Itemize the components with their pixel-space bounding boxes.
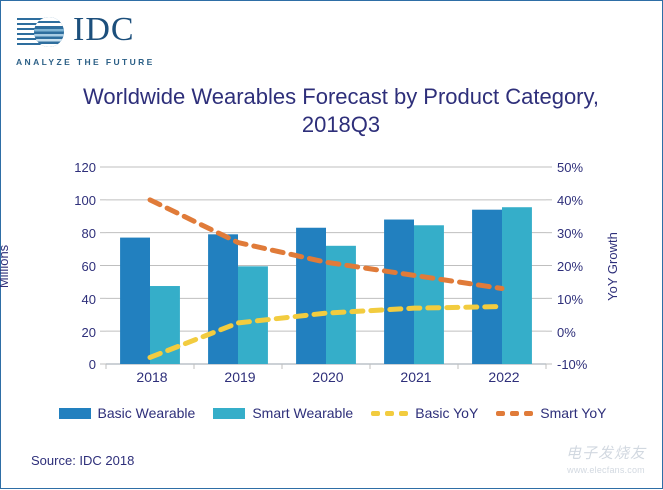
x-tick-2018: 2018 [117, 369, 187, 385]
watermark-cn-text: 电子发烧友 [558, 444, 654, 464]
legend-label-smart-yoy: Smart YoY [540, 405, 606, 421]
legend-dash-smart-yoy [496, 408, 534, 419]
bar-smart-wearable-2018 [150, 286, 180, 364]
legend-label-smart-wearable: Smart Wearable [252, 405, 353, 421]
watermark-url-text: www.elecfans.com [558, 464, 654, 476]
x-tick-2021: 2021 [381, 369, 451, 385]
x-tick-2020: 2020 [293, 369, 363, 385]
bar-basic-wearable-2021 [384, 220, 414, 364]
legend-dash-basic-yoy [371, 408, 409, 419]
legend-swatch-smart-wearable [213, 408, 245, 419]
chart-figure: IDC ANALYZE THE FUTURE Worldwide Wearabl… [0, 0, 663, 489]
bar-smart-wearable-2019 [238, 266, 268, 364]
chart-legend: Basic Wearable Smart Wearable Basic YoY … [1, 405, 663, 421]
legend-item-smart-yoy[interactable]: Smart YoY [496, 405, 606, 421]
bar-basic-wearable-2020 [296, 228, 326, 364]
watermark: 电子发烧友 www.elecfans.com [558, 444, 654, 486]
legend-item-smart-wearable[interactable]: Smart Wearable [213, 405, 353, 421]
x-tick-2022: 2022 [469, 369, 539, 385]
legend-item-basic-yoy[interactable]: Basic YoY [371, 405, 478, 421]
bar-basic-wearable-2019 [208, 234, 238, 364]
legend-swatch-basic-wearable [59, 408, 91, 419]
legend-label-basic-yoy: Basic YoY [415, 405, 478, 421]
bar-basic-wearable-2018 [120, 238, 150, 364]
source-note: Source: IDC 2018 [31, 453, 134, 468]
legend-item-basic-wearable[interactable]: Basic Wearable [59, 405, 196, 421]
legend-label-basic-wearable: Basic Wearable [98, 405, 196, 421]
x-tick-2019: 2019 [205, 369, 275, 385]
bar-smart-wearable-2021 [414, 225, 444, 364]
bar-smart-wearable-2022 [502, 207, 532, 364]
